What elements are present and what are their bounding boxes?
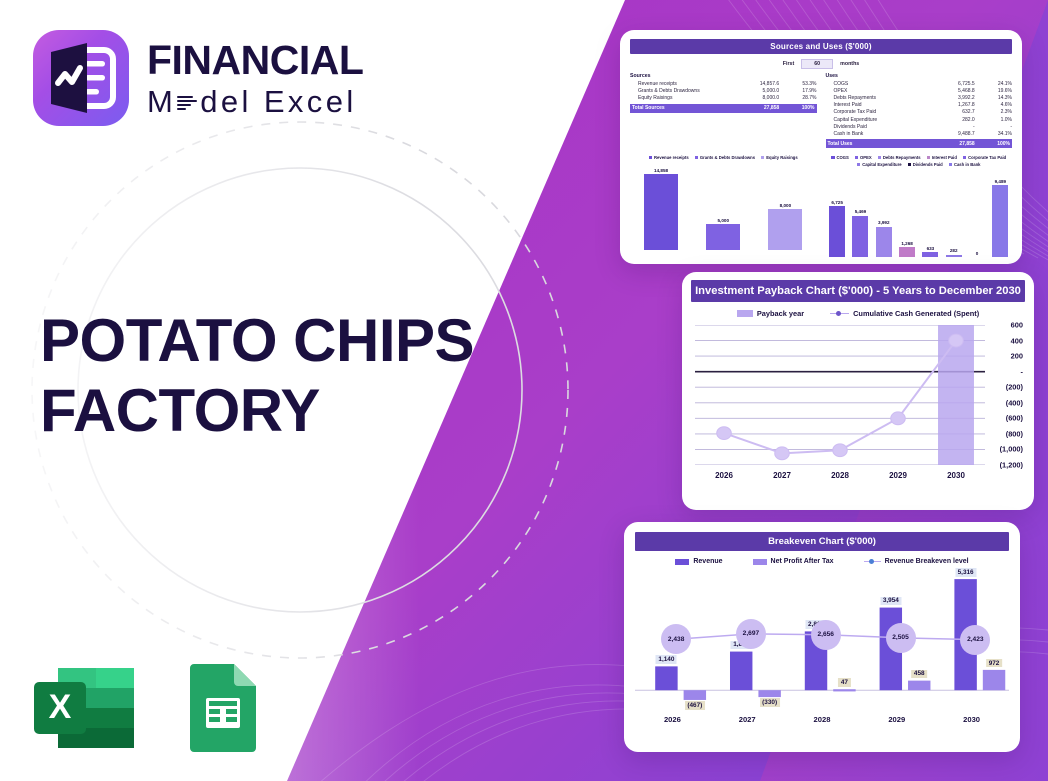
row-percent: 53.3%: [779, 81, 816, 88]
legend-label-breakeven-level: Revenue Breakeven level: [885, 558, 969, 565]
row-label: Cash in Bank: [826, 130, 923, 137]
bar: [876, 227, 892, 257]
legend-label: COGS: [837, 155, 849, 160]
page-title: POTATO CHIPS FACTORY: [40, 306, 474, 446]
payback-title: Investment Payback Chart ($'000) - 5 Yea…: [691, 280, 1025, 302]
breakeven-value-bubble: 2,697: [736, 619, 766, 649]
brand-name-secondary: M del Excel: [147, 86, 363, 117]
sources-chart-legend: Revenue receiptsGrants & Debts Drawdowns…: [630, 155, 817, 160]
payback-plot: [695, 325, 985, 465]
payback-chart-svg: [695, 325, 985, 465]
period-prefix-label: First: [783, 61, 794, 67]
legend-item-npat: Net Profit After Tax: [753, 558, 834, 565]
table-row: COGS6,725.524.1%: [826, 81, 1013, 88]
y-axis-tick-label: 200: [1011, 352, 1023, 361]
period-months-input[interactable]: 60: [801, 59, 833, 69]
table-row: Cash in Bank9,488.734.1%: [826, 130, 1013, 137]
legend-item: Grants & Debts Drawdowns: [695, 155, 755, 160]
legend-swatch: [949, 163, 952, 166]
y-axis-tick-label: (400): [1006, 398, 1023, 407]
row-percent: 34.1%: [975, 130, 1012, 137]
row-label: Revenue receipts: [630, 81, 727, 88]
page-title-line-1: POTATO CHIPS: [40, 306, 474, 376]
period-suffix-label: months: [840, 61, 859, 67]
total-sources-row: Total Sources 27,858 100%: [630, 104, 817, 113]
legend-swatch-line: [830, 313, 849, 315]
bar-item: 5,469: [849, 171, 872, 257]
uses-bar-chart: COGSOPEXDebts RepaymentsInterest PaidCor…: [826, 155, 1013, 257]
brand-secondary-rest: del Excel: [200, 86, 356, 117]
table-row: Dividends Paid--: [826, 123, 1013, 130]
bar-item: 9,489: [989, 171, 1012, 257]
row-percent: 28.7%: [779, 95, 816, 102]
y-axis-tick-label: (1,000): [1000, 445, 1023, 454]
breakeven-value-bubble: 2,423: [960, 625, 990, 655]
legend-label: Corporate Tax Paid: [968, 155, 1006, 160]
row-percent: 1.0%: [975, 116, 1012, 123]
x-axis-tick-label: 2029: [869, 471, 927, 480]
uses-column: Uses COGS6,725.524.1%OPEX5,468.819.6%Deb…: [826, 73, 1013, 148]
bar-value-label: 282: [950, 248, 958, 253]
x-axis-tick-label: 2028: [811, 471, 869, 480]
x-axis-tick-label: 2030: [927, 471, 985, 480]
table-row: OPEX5,468.819.6%: [826, 88, 1013, 95]
bar-value-label: 14,858: [654, 168, 668, 173]
legend-label: Debts Repayments: [883, 155, 921, 160]
bar-item: 0: [965, 171, 988, 257]
row-label: Grants & Debts Drawdowns: [630, 88, 727, 95]
sources-chart-bars: 14,8585,0008,000: [630, 164, 817, 250]
bar: [922, 252, 938, 257]
legend-swatch: [857, 163, 860, 166]
total-sources-value: 27,858: [727, 105, 779, 111]
legend-label: Capital Expenditure: [862, 162, 901, 167]
npat-value-label: 47: [838, 678, 850, 687]
brand-logo-block: FINANCIAL M del Excel: [33, 30, 363, 126]
row-percent: 4.6%: [975, 102, 1012, 109]
hamburger-o-icon: [177, 96, 197, 110]
legend-item: COGS: [831, 155, 849, 160]
row-label: COGS: [826, 81, 923, 88]
bar: [706, 224, 740, 250]
payback-legend: Payback year Cumulative Cash Generated (…: [691, 309, 1025, 318]
legend-swatch: [761, 156, 764, 159]
table-row: Revenue receipts14,857.653.3%: [630, 81, 817, 88]
bar-value-label: 633: [927, 246, 935, 251]
row-label: Debts Repayments: [826, 95, 923, 102]
bar-value-label: 1,268: [901, 241, 913, 246]
revenue-value-label: 3,954: [880, 597, 901, 606]
breakeven-x-axis: 20262027202820292030: [635, 715, 1009, 724]
revenue-value-label: 1,140: [656, 655, 677, 664]
sources-and-uses-card: Sources and Uses ($'000) First 60 months…: [620, 30, 1022, 264]
row-percent: 14.3%: [975, 95, 1012, 102]
google-sheets-icon[interactable]: [180, 660, 264, 756]
uses-header: Uses: [826, 73, 1013, 79]
legend-swatch: [908, 163, 911, 166]
table-row: Capital Expenditure282.01.0%: [826, 116, 1013, 123]
bar: [768, 209, 802, 250]
bar-item: 6,725: [826, 171, 849, 257]
row-value: 6,725.5: [922, 81, 974, 88]
total-uses-pct: 100%: [975, 141, 1012, 147]
legend-item: Debts Repayments: [878, 155, 921, 160]
legend-swatch: [831, 156, 834, 159]
legend-swatch: [878, 156, 881, 159]
breakeven-card: Breakeven Chart ($'000) Revenue Net Prof…: [624, 522, 1020, 752]
row-value: 632.7: [922, 109, 974, 116]
logo-glyph: [33, 30, 129, 126]
sources-uses-charts: Revenue receiptsGrants & Debts Drawdowns…: [630, 155, 1012, 257]
brand-name-primary: FINANCIAL: [147, 40, 363, 81]
bar-item: 8,000: [754, 164, 816, 250]
legend-item: Capital Expenditure: [857, 162, 902, 167]
breakeven-value-bubble: 2,505: [886, 623, 916, 653]
file-format-icons: X: [30, 660, 264, 756]
bar-item: 633: [919, 171, 942, 257]
legend-label-payback-year: Payback year: [757, 309, 804, 318]
sources-column: Sources Revenue receipts14,857.653.3%Gra…: [630, 73, 817, 148]
npat-value-label: (330): [760, 698, 780, 707]
bar-value-label: 9,489: [995, 179, 1007, 184]
bar-value-label: 8,000: [780, 203, 792, 208]
svg-text:X: X: [49, 688, 72, 726]
bar-value-label: 5,469: [855, 209, 867, 214]
x-axis-tick-label: 2026: [635, 715, 710, 724]
row-label: Equity Raisings: [630, 95, 727, 102]
row-value: -: [922, 123, 974, 130]
bar: [946, 255, 962, 257]
legend-label: Equity Raisings: [766, 155, 797, 160]
y-axis-tick-label: (1,200): [1000, 461, 1023, 470]
y-axis-tick-label: (600): [1006, 414, 1023, 423]
legend-label: Revenue receipts: [654, 155, 689, 160]
legend-item: Equity Raisings: [761, 155, 798, 160]
legend-swatch: [649, 156, 652, 159]
y-axis-tick-label: 600: [1011, 321, 1023, 330]
breakeven-value-bubble: 2,656: [811, 620, 841, 650]
legend-item: OPEX: [855, 155, 872, 160]
bar-value-label: 5,000: [718, 218, 730, 223]
breakeven-legend: Revenue Net Profit After Tax Revenue Bre…: [635, 558, 1009, 565]
legend-swatch: [695, 156, 698, 159]
legend-item: Corporate Tax Paid: [963, 155, 1006, 160]
row-percent: 24.1%: [975, 81, 1012, 88]
table-row: Equity Raisings8,000.028.7%: [630, 95, 817, 102]
row-value: 14,857.6: [727, 81, 779, 88]
table-row: Grants & Debts Drawdowns5,000.017.9%: [630, 88, 817, 95]
legend-label: Dividends Paid: [913, 162, 943, 167]
payback-x-axis: 20262027202820292030: [695, 471, 985, 480]
sources-uses-tables: Sources Revenue receipts14,857.653.3%Gra…: [630, 73, 1012, 148]
row-percent: -: [975, 123, 1012, 130]
revenue-value-label: 5,316: [955, 568, 976, 577]
sources-bar-chart: Revenue receiptsGrants & Debts Drawdowns…: [630, 155, 817, 257]
total-uses-value: 27,858: [922, 141, 974, 147]
bar-item: 14,858: [630, 164, 692, 250]
y-axis-tick-label: (800): [1006, 429, 1023, 438]
row-value: 5,468.8: [922, 88, 974, 95]
bar: [852, 216, 868, 257]
row-label: Corporate Tax Paid: [826, 109, 923, 116]
legend-swatch: [855, 156, 858, 159]
legend-label: Grants & Debts Drawdowns: [700, 155, 755, 160]
table-row: Debts Repayments3,992.214.3%: [826, 95, 1013, 102]
legend-item-revenue: Revenue: [675, 558, 722, 565]
sources-uses-title: Sources and Uses ($'000): [630, 39, 1012, 54]
payback-plot-area: 600400200-(200)(400)(600)(800)(1,000)(1,…: [691, 323, 1025, 491]
bar-item: 5,000: [692, 164, 754, 250]
table-row: Interest Paid1,267.84.6%: [826, 102, 1013, 109]
bar-value-label: 3,992: [878, 220, 890, 225]
row-value: 3,992.2: [922, 95, 974, 102]
period-selector: First 60 months: [630, 59, 1012, 69]
npat-value-label: 458: [911, 670, 927, 679]
legend-item: Revenue receipts: [649, 155, 689, 160]
uses-table: COGS6,725.524.1%OPEX5,468.819.6%Debts Re…: [826, 81, 1013, 138]
row-value: 8,000.0: [727, 95, 779, 102]
x-axis-tick-label: 2028: [785, 715, 860, 724]
payback-y-axis: 600400200-(200)(400)(600)(800)(1,000)(1,…: [985, 325, 1023, 465]
legend-item-cumulative-cash: Cumulative Cash Generated (Spent): [830, 309, 979, 318]
total-sources-label: Total Sources: [630, 105, 727, 111]
row-label: OPEX: [826, 88, 923, 95]
table-row: Corporate Tax Paid632.72.3%: [826, 109, 1013, 116]
legend-label-npat: Net Profit After Tax: [771, 558, 834, 565]
npat-value-label: 972: [986, 659, 1002, 668]
x-axis-tick-label: 2030: [934, 715, 1009, 724]
legend-swatch-revenue: [675, 559, 689, 565]
row-label: Capital Expenditure: [826, 116, 923, 123]
y-axis-tick-label: 400: [1011, 336, 1023, 345]
y-axis-tick-label: (200): [1006, 383, 1023, 392]
total-uses-row: Total Uses 27,858 100%: [826, 139, 1013, 148]
bar: [829, 206, 845, 257]
row-percent: 17.9%: [779, 88, 816, 95]
bar-value-label: 6,725: [831, 200, 843, 205]
x-axis-tick-label: 2027: [710, 715, 785, 724]
brand-secondary-m: M: [147, 86, 176, 117]
legend-swatch-breakeven-line: [864, 561, 881, 563]
x-axis-tick-label: 2029: [859, 715, 934, 724]
row-percent: 19.6%: [975, 88, 1012, 95]
bar-item: 1,268: [895, 171, 918, 257]
legend-item-breakeven-level: Revenue Breakeven level: [864, 558, 969, 565]
row-value: 282.0: [922, 116, 974, 123]
legend-label: Interest Paid: [932, 155, 957, 160]
page-title-line-2: FACTORY: [40, 376, 474, 446]
microsoft-excel-icon[interactable]: X: [30, 660, 142, 756]
x-axis-tick-label: 2027: [753, 471, 811, 480]
row-value: 1,267.8: [922, 102, 974, 109]
legend-item: Interest Paid: [927, 155, 957, 160]
breakeven-plot-area: 1,1401,8482,8143,9545,316(467)(330)47458…: [635, 569, 1009, 709]
breakeven-value-bubble: 2,438: [661, 624, 691, 654]
legend-label-revenue: Revenue: [693, 558, 722, 565]
sources-table: Revenue receipts14,857.653.3%Grants & De…: [630, 81, 817, 102]
bar: [644, 174, 678, 250]
row-label: Interest Paid: [826, 102, 923, 109]
row-value: 9,488.7: [922, 130, 974, 137]
bar: [992, 185, 1008, 257]
legend-swatch: [927, 156, 930, 159]
npat-value-label: (467): [685, 701, 705, 710]
sources-header: Sources: [630, 73, 817, 79]
uses-chart-legend: COGSOPEXDebts RepaymentsInterest PaidCor…: [826, 155, 1013, 167]
legend-label: OPEX: [860, 155, 872, 160]
legend-item: Dividends Paid: [908, 162, 943, 167]
legend-swatch-npat: [753, 559, 767, 565]
x-axis-tick-label: 2026: [695, 471, 753, 480]
total-sources-pct: 100%: [779, 105, 816, 111]
bar-value-label: 0: [976, 251, 979, 256]
total-uses-label: Total Uses: [826, 141, 923, 147]
legend-label-cumulative-cash: Cumulative Cash Generated (Spent): [853, 309, 979, 318]
legend-swatch-band: [737, 310, 753, 317]
row-value: 5,000.0: [727, 88, 779, 95]
legend-label: Cash in Bank: [954, 162, 981, 167]
investment-payback-card: Investment Payback Chart ($'000) - 5 Yea…: [682, 272, 1034, 510]
row-label: Dividends Paid: [826, 123, 923, 130]
y-axis-tick-label: -: [1021, 367, 1023, 376]
breakeven-title: Breakeven Chart ($'000): [635, 532, 1009, 551]
legend-item-payback-year: Payback year: [737, 309, 804, 318]
row-percent: 2.3%: [975, 109, 1012, 116]
bar: [899, 247, 915, 257]
bar-item: 282: [942, 171, 965, 257]
legend-swatch: [963, 156, 966, 159]
uses-chart-bars: 6,7255,4693,9921,26863328209,489: [826, 171, 1013, 257]
financial-model-logo-icon: [33, 30, 129, 126]
bar-item: 3,992: [872, 171, 895, 257]
legend-item: Cash in Bank: [949, 162, 981, 167]
